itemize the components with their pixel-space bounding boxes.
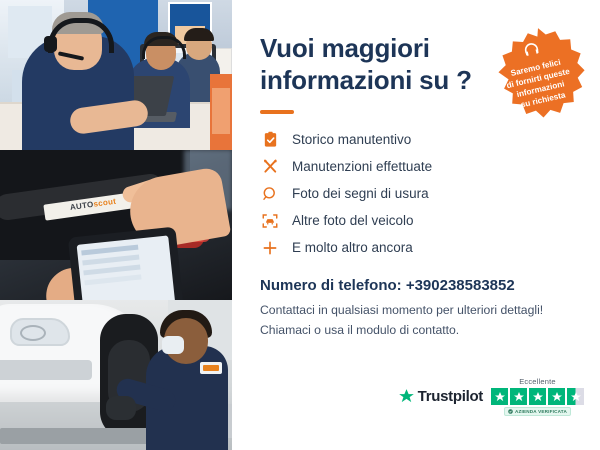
photo-mechanic-wheel xyxy=(0,300,232,450)
contact-subtext-line2: Chiamaci o usa il modulo di contatto. xyxy=(260,321,576,339)
verified-check-icon xyxy=(508,409,513,414)
star-1 xyxy=(491,388,508,405)
info-panel: Vuoi maggiori informazioni su ? Storico … xyxy=(232,0,600,450)
clipboard-check-icon xyxy=(260,130,280,150)
trustpilot-name: Trustpilot xyxy=(418,388,483,405)
photo-column: AUTOscout xyxy=(0,0,232,450)
title-underline xyxy=(260,110,294,114)
star-3 xyxy=(529,388,546,405)
photo-inspection-tablet: AUTOscout xyxy=(0,150,232,300)
plus-icon xyxy=(260,238,280,258)
feature-list: Storico manutentivo Manutenzioni effettu… xyxy=(260,126,576,261)
star-5-half xyxy=(567,388,584,405)
verified-label: AZIENDA VERIFICATA xyxy=(515,409,567,414)
uniform-logo-decor xyxy=(200,362,222,374)
trustpilot-star-icon xyxy=(398,388,415,405)
list-item-altre-foto: Altre foto del veicolo xyxy=(260,207,576,234)
tablet-decor xyxy=(68,227,184,300)
headset-icon xyxy=(519,38,543,62)
magnifier-icon xyxy=(260,184,280,204)
lift-platform-decor xyxy=(0,428,150,444)
list-item-altro: E molto altro ancora xyxy=(260,234,576,261)
trustpilot-rating: Eccellente AZIENDA VERIFICATA xyxy=(491,377,584,416)
photo-call-centre xyxy=(0,0,232,150)
orange-object-decor xyxy=(210,74,232,150)
trustpilot-logo: Trustpilot xyxy=(398,388,483,405)
page-title: Vuoi maggiori informazioni su ? xyxy=(260,32,475,96)
list-item-manutenzioni: Manutenzioni effettuate xyxy=(260,153,576,180)
feature-label: E molto altro ancora xyxy=(292,240,413,255)
star-2 xyxy=(510,388,527,405)
feature-label: Storico manutentivo xyxy=(292,132,411,147)
headlight-decor xyxy=(10,318,70,346)
star-4 xyxy=(548,388,565,405)
tools-cross-icon xyxy=(260,157,280,177)
list-item-foto-usura: Foto dei segni di usura xyxy=(260,180,576,207)
callout-badge: Saremo felici di fornirti queste informa… xyxy=(486,26,590,130)
phone-number[interactable]: Numero di telefono: +390238583852 xyxy=(260,277,576,294)
feature-label: Foto dei segni di usura xyxy=(292,186,429,201)
feature-label: Manutenzioni effettuate xyxy=(292,159,432,174)
trustpilot-widget[interactable]: Trustpilot Eccellente AZIENDA VERIFICATA xyxy=(398,377,584,416)
verified-company-badge: AZIENDA VERIFICATA xyxy=(504,407,571,416)
rating-label: Eccellente xyxy=(519,377,556,386)
glove-decor xyxy=(106,396,136,420)
star-rating xyxy=(491,388,584,405)
car-scan-icon xyxy=(260,211,280,231)
vehicle-info-advert: AUTOscout Vuoi maggiori informazioni su … xyxy=(0,0,600,450)
feature-label: Altre foto del veicolo xyxy=(292,213,414,228)
contact-subtext-line1: Contattaci in qualsiasi momento per ulte… xyxy=(260,301,576,319)
